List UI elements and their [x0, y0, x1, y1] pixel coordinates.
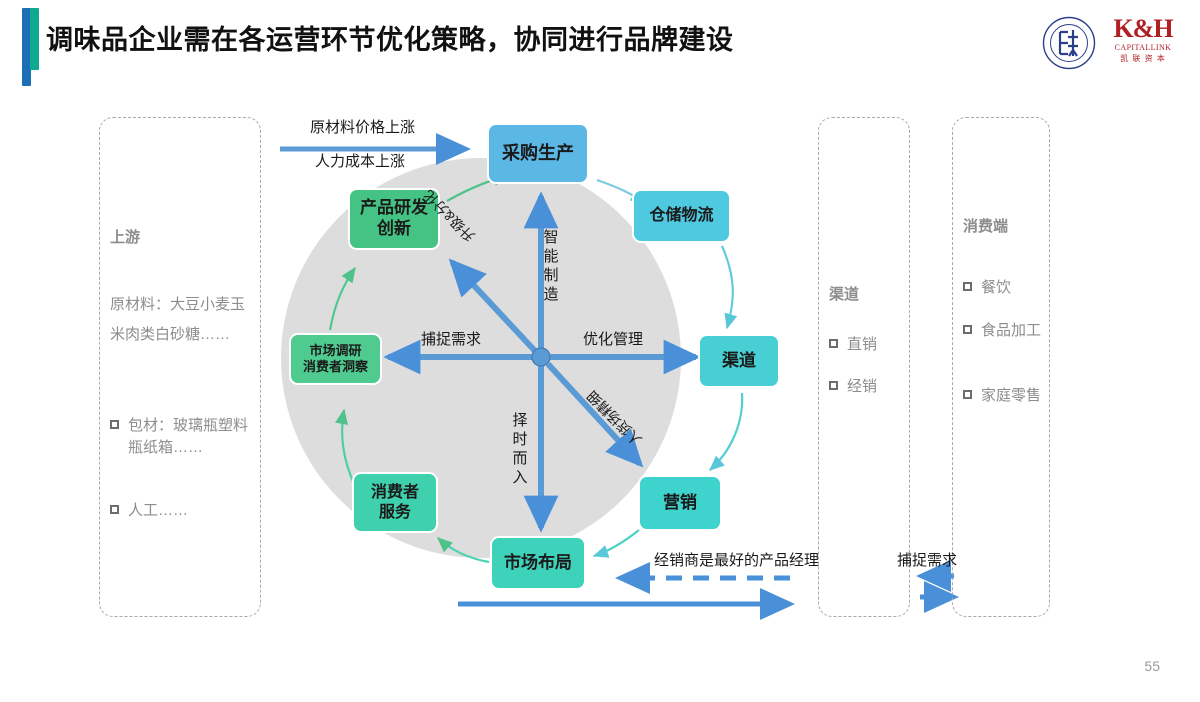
spoke-label-top: 智能制造 [543, 228, 559, 304]
node-label: 采购生产 [502, 143, 574, 165]
spoke-label-right: 优化管理 [583, 328, 643, 349]
spoke-label-bottom: 择时而入 [512, 411, 528, 487]
node-market-research[interactable]: 市场调研 消费者洞察 [291, 335, 380, 383]
panel-consumer [952, 117, 1050, 617]
node-label: 产品研发 创新 [360, 198, 428, 239]
list-item-label: 餐饮 [981, 277, 1011, 299]
panel-upstream-title: 上游 [110, 226, 140, 247]
list-item: 经销 [829, 376, 877, 398]
bottom-label-distributor: 经销商是最好的产品经理 [654, 549, 819, 570]
list-item: 餐饮 [963, 277, 1043, 299]
square-bullet-icon [829, 339, 838, 348]
square-bullet-icon [110, 505, 119, 514]
node-label: 消费者 服务 [371, 483, 419, 522]
node-label: 市场调研 消费者洞察 [303, 343, 368, 375]
university-seal-icon [1042, 16, 1096, 70]
list-item: 家庭零售 [963, 385, 1043, 407]
bottom-label-capture-demand: 捕捉需求 [897, 549, 957, 570]
square-bullet-icon [963, 325, 972, 334]
node-label: 营销 [663, 493, 697, 514]
list-item-label: 人工…… [128, 500, 188, 522]
panel-upstream [99, 117, 261, 617]
accent-bar-teal [30, 8, 39, 70]
square-bullet-icon [963, 390, 972, 399]
inbound-label-labor-cost: 人力成本上涨 [315, 150, 405, 171]
square-bullet-icon [110, 420, 119, 429]
list-item: 人工…… [110, 500, 250, 522]
list-item-label: 经销 [847, 376, 877, 398]
panel-consumer-title: 消费端 [963, 215, 1008, 236]
kh-name: CAPITALLINK [1110, 43, 1176, 52]
logo-group: K&H CAPITALLINK 凯 联 资 本 [1032, 14, 1182, 76]
node-channel[interactable]: 渠道 [700, 336, 778, 386]
list-item: 包材：玻璃瓶塑料瓶纸箱…… [110, 415, 250, 459]
list-item-label: 家庭零售 [981, 385, 1041, 407]
node-warehouse-logistics[interactable]: 仓储物流 [634, 191, 729, 241]
panel-channel-title: 渠道 [829, 283, 859, 304]
list-item-label: 包材：玻璃瓶塑料瓶纸箱…… [128, 415, 250, 459]
list-item-label: 直销 [847, 334, 877, 356]
page-title: 调味品企业需在各运营环节优化策略，协同进行品牌建设 [46, 18, 734, 57]
node-label: 仓储物流 [649, 206, 713, 226]
square-bullet-icon [829, 381, 838, 390]
node-label: 渠道 [722, 351, 756, 372]
node-consumer-service[interactable]: 消费者 服务 [354, 474, 436, 531]
panel-channel [818, 117, 910, 617]
inbound-label-material-price: 原材料价格上涨 [310, 116, 415, 137]
node-procurement-production[interactable]: 采购生产 [489, 125, 587, 182]
kh-mark: K&H [1110, 16, 1176, 42]
node-label: 市场布局 [504, 553, 572, 574]
list-item: 食品加工 [963, 320, 1043, 342]
node-market-layout[interactable]: 市场布局 [492, 538, 584, 588]
list-item: 直销 [829, 334, 877, 356]
square-bullet-icon [963, 282, 972, 291]
node-marketing[interactable]: 营销 [640, 477, 720, 529]
slide-header: 调味品企业需在各运营环节优化策略，协同进行品牌建设 K&H CAPITALLIN… [0, 0, 1200, 96]
list-item-label: 食品加工 [981, 320, 1041, 342]
spoke-label-left: 捕捉需求 [421, 328, 481, 349]
page-number: 55 [1144, 658, 1160, 674]
capitallink-logo: K&H CAPITALLINK 凯 联 资 本 [1110, 16, 1176, 74]
kh-name-cn: 凯 联 资 本 [1110, 53, 1176, 64]
panel-upstream-paragraph: 原材料：大豆小麦玉米肉类白砂糖…… [110, 290, 246, 350]
